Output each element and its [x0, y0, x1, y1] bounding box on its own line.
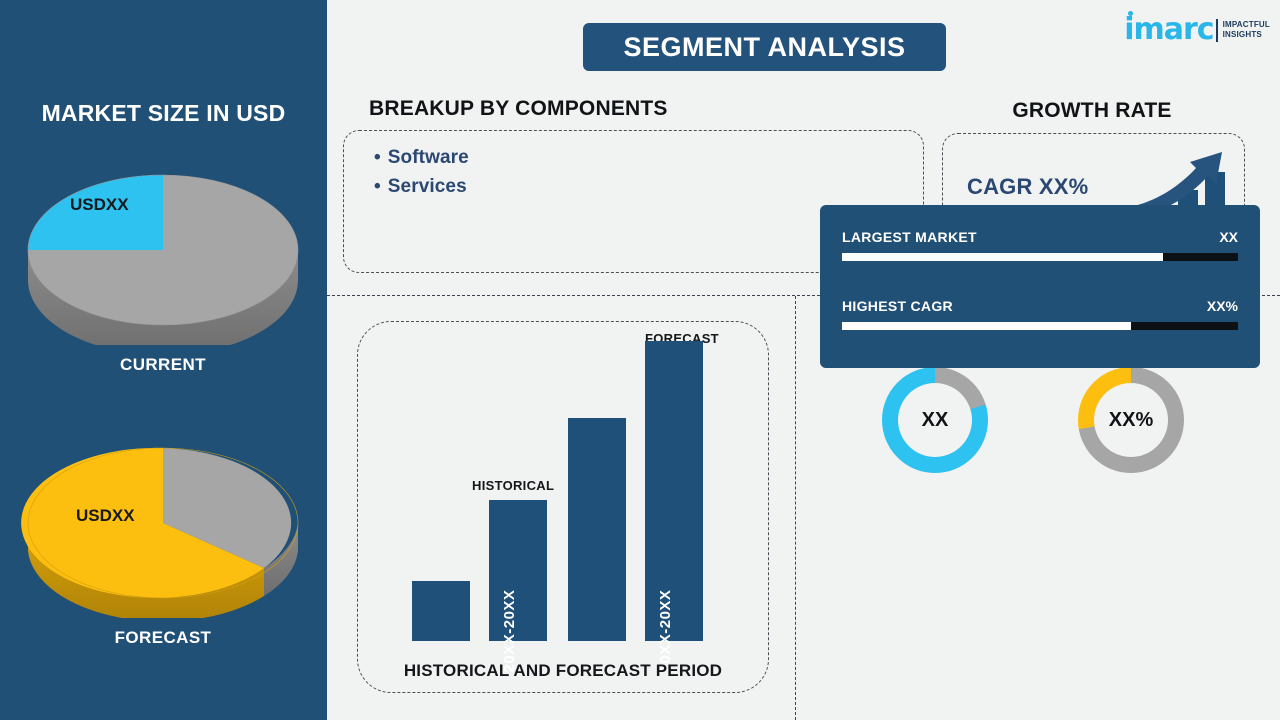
bar-chart-caption: HISTORICAL AND FORECAST PERIOD	[357, 661, 769, 681]
pie-chart-current: USDXX CURRENT	[18, 155, 308, 350]
market-size-title: MARKET SIZE IN USD	[0, 100, 327, 127]
stat-progress-fill	[842, 322, 1131, 330]
historical-forecast-bar-chart: HISTORICAL 20XX-20XX FORECAST 20XX-20XX …	[357, 321, 769, 693]
stat-label: LARGEST MARKET	[842, 229, 977, 245]
imarc-logo: imarc IMPACTFUL INSIGHTS	[1124, 12, 1270, 48]
stat-value: XX	[1219, 229, 1238, 245]
bar-4: 20XX-20XX	[645, 341, 703, 641]
donut-chart-percent: XX%	[1078, 367, 1184, 473]
donut-1-center-label: XX	[898, 383, 972, 457]
logo-tagline-line2: INSIGHTS	[1223, 30, 1270, 40]
list-item: Software	[374, 143, 469, 172]
page-title: SEGMENT ANALYSIS	[583, 23, 946, 71]
breakup-list: Software Services	[374, 143, 469, 201]
logo-divider	[1216, 19, 1218, 42]
bar-historical-label: HISTORICAL	[472, 478, 554, 493]
stat-progress-track	[842, 322, 1238, 330]
breakup-heading: BREAKUP BY COMPONENTS	[369, 97, 668, 121]
pie-forecast-svg	[18, 428, 308, 618]
stat-label: HIGHEST CAGR	[842, 298, 953, 314]
bar-2-period-label: 20XX-20XX	[501, 590, 518, 673]
bar-1	[412, 581, 470, 641]
pie-current-svg	[18, 155, 308, 345]
pie-forecast-caption: FORECAST	[18, 628, 308, 648]
cagr-line-1: CAGR XX%	[967, 172, 1099, 202]
vertical-divider	[795, 296, 796, 720]
bar-2: 20XX-20XX	[489, 500, 547, 641]
bar-3	[568, 418, 626, 641]
bar-4-period-label: 20XX-20XX	[657, 590, 674, 673]
donut-2-center-label: XX%	[1094, 383, 1168, 457]
pie-chart-forecast: USDXX FORECAST	[18, 428, 308, 623]
donut-chart-value: XX	[882, 367, 988, 473]
pie-current-caption: CURRENT	[18, 355, 308, 375]
logo-word-text: imarc	[1124, 15, 1213, 45]
logo-tagline: IMPACTFUL INSIGHTS	[1223, 20, 1270, 40]
market-size-panel: MARKET SIZE IN USD USDXX CURRENT	[0, 0, 327, 720]
main-content: SEGMENT ANALYSIS imarc IMPACTFUL INSIGHT…	[327, 0, 1280, 720]
stat-row-highest-cagr: HIGHEST CAGR XX%	[842, 298, 1238, 316]
stat-row-largest-market: LARGEST MARKET XX	[842, 229, 1238, 247]
stat-progress-track	[842, 253, 1238, 261]
growth-rate-heading: GROWTH RATE	[942, 99, 1242, 123]
logo-tagline-line1: IMPACTFUL	[1223, 20, 1270, 30]
market-stats-panel: LARGEST MARKET XX HIGHEST CAGR XX%	[820, 205, 1260, 368]
stat-progress-fill	[842, 253, 1163, 261]
logo-wordmark: imarc	[1124, 15, 1213, 45]
list-item: Services	[374, 172, 469, 201]
infographic-page: MARKET SIZE IN USD USDXX CURRENT	[0, 0, 1280, 720]
stat-value: XX%	[1207, 298, 1238, 314]
